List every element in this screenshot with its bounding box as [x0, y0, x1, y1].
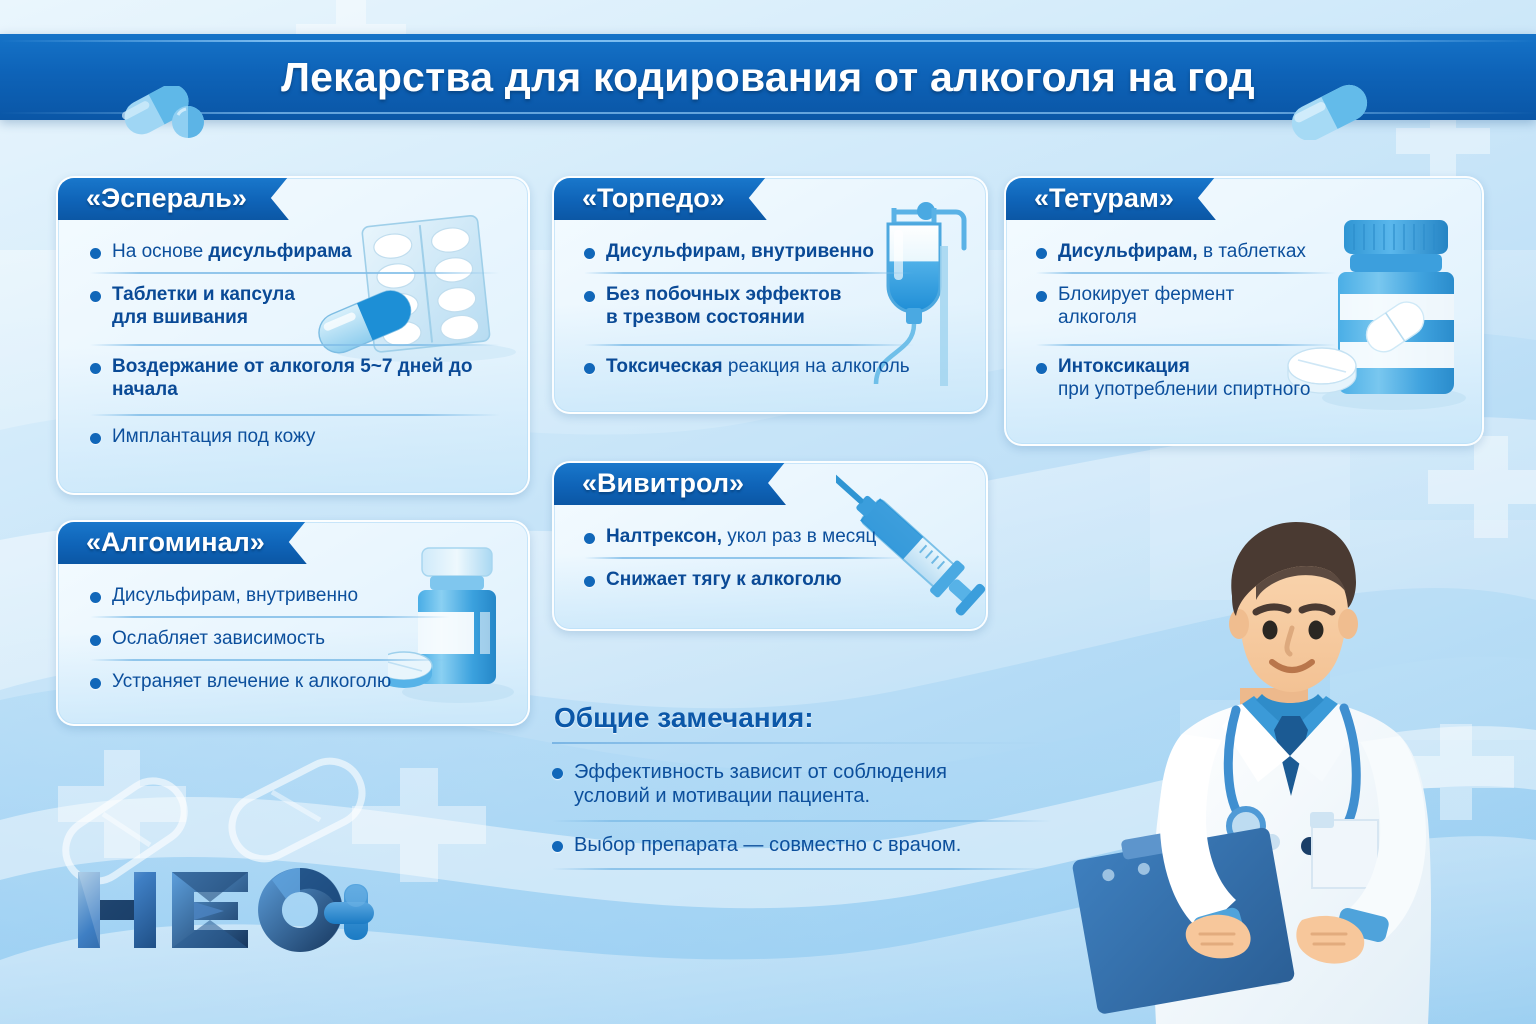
item-text-bold: Интоксикация	[1058, 356, 1190, 377]
list-item: Эффективность зависит от соблюдения усло…	[552, 760, 1052, 809]
capsule-pill-icon	[122, 86, 208, 138]
card-torpedo: «Торпедо» Дисульфирам, внутривенно Без п…	[552, 176, 988, 414]
card-teturam: «Тетурам» Дисульфирам, в таблетках Блоки…	[1004, 176, 1484, 446]
bullet-icon	[90, 635, 101, 646]
divider	[90, 616, 450, 618]
divider	[584, 557, 904, 559]
bullet-icon	[584, 248, 595, 259]
infographic-poster: Лекарства для кодирования от алкоголя на…	[0, 0, 1536, 1024]
item-text-bold: Снижает тягу к алкоголю	[606, 569, 842, 590]
bullet-icon	[90, 248, 101, 259]
item-text-bold: дисульфирама	[208, 241, 351, 262]
brand-logo	[74, 866, 374, 954]
divider	[1036, 344, 1336, 346]
bullet-icon	[584, 291, 595, 302]
list-item: Дисульфирам, внутривенно	[90, 584, 450, 607]
bullet-icon	[1036, 363, 1047, 374]
divider	[552, 868, 1052, 870]
bullet-icon	[552, 841, 563, 852]
list-item: Интоксикация при употреблении спиртного	[1036, 355, 1336, 401]
divider	[90, 659, 450, 661]
card-title-esperal: «Эспераль»	[56, 176, 289, 220]
bullet-icon	[90, 592, 101, 603]
list-item: Устраняет влечение к алкоголю	[90, 670, 450, 693]
item-text: Дисульфирам, внутривенно	[112, 584, 358, 607]
item-text-suffix: при употреблении спиртного	[1058, 379, 1310, 400]
bullet-icon	[584, 533, 595, 544]
card-title-algominal: «Алгоминал»	[56, 520, 307, 564]
list-item: Снижает тягу к алкоголю	[584, 568, 904, 591]
bullet-icon	[90, 291, 101, 302]
general-notes-section: Общие замечания: Эффективность зависит о…	[552, 702, 1052, 881]
list-item: Ослабляет зависимость	[90, 627, 450, 650]
bullet-icon	[90, 363, 101, 374]
list-item: На основе дисульфирама	[90, 240, 500, 263]
list-item: Имплантация под кожу	[90, 425, 500, 448]
item-text: Ослабляет зависимость	[112, 627, 325, 650]
divider	[584, 272, 914, 274]
item-text: Устраняет влечение к алкоголю	[112, 670, 391, 693]
list-item: Дисульфирам, внутривенно	[584, 240, 914, 263]
divider	[584, 344, 914, 346]
list-item: Без побочных эффектов в трезвом состояни…	[584, 283, 914, 329]
item-text-prefix: На основе	[112, 241, 208, 262]
item-text-bold: Дисульфирам, внутривенно	[606, 241, 874, 262]
item-text: Блокирует фермент алкоголя	[1058, 283, 1240, 329]
item-text-bold: Воздержание от алкоголя 5~7 дней до нача…	[112, 356, 472, 400]
item-text-suffix: в таблетках	[1198, 241, 1306, 262]
doctor-with-clipboard-illustration	[1060, 520, 1520, 1024]
item-text: Имплантация под кожу	[112, 425, 315, 448]
bullet-icon	[584, 576, 595, 587]
item-text-bold: Таблетки и капсула для вшивания	[112, 284, 295, 328]
card-vivitrol: «Вивитрол» Налтрексон, укол раз в месяц …	[552, 461, 988, 631]
list-item: Выбор препарата — совместно с врачом.	[552, 833, 1052, 857]
item-text-bold: Налтрексон,	[606, 526, 722, 547]
bullet-icon	[584, 363, 595, 374]
card-esperal: «Эспераль» На основе дисульфирама Таблет…	[56, 176, 530, 495]
card-title-vivitrol: «Вивитрол»	[552, 461, 786, 505]
list-item: Воздержание от алкоголя 5~7 дней до нача…	[90, 355, 500, 401]
note-text: Эффективность зависит от соблюдения усло…	[574, 760, 1004, 809]
list-item: Токсическая реакция на алкоголь	[584, 355, 914, 378]
divider	[90, 344, 500, 346]
divider	[90, 272, 500, 274]
card-title-teturam: «Тетурам»	[1004, 176, 1216, 220]
bullet-icon	[90, 433, 101, 444]
bullet-icon	[552, 768, 563, 779]
capsule-icon	[1283, 84, 1375, 140]
notes-rule	[552, 742, 1052, 744]
divider	[552, 820, 1052, 822]
list-item: Блокирует фермент алкоголя	[1036, 283, 1336, 329]
bullet-icon	[90, 678, 101, 689]
list-item: Дисульфирам, в таблетках	[1036, 240, 1336, 263]
list-item: Таблетки и капсула для вшивания	[90, 283, 500, 329]
poster-header: Лекарства для кодирования от алкоголя на…	[0, 34, 1536, 120]
bullet-icon	[1036, 291, 1047, 302]
item-text-bold: Без побочных эффектов в трезвом состояни…	[606, 284, 841, 328]
item-text-suffix: укол раз в месяц	[722, 526, 876, 547]
item-text-suffix: реакция на алкоголь	[723, 356, 910, 377]
note-text: Выбор препарата — совместно с врачом.	[574, 833, 961, 857]
card-title-torpedo: «Торпедо»	[552, 176, 767, 220]
divider	[1036, 272, 1336, 274]
item-text-bold: Токсическая	[606, 356, 723, 377]
item-text-bold: Дисульфирам,	[1058, 241, 1198, 262]
notes-title: Общие замечания:	[554, 702, 1052, 734]
bullet-icon	[1036, 248, 1047, 259]
page-title: Лекарства для кодирования от алкоголя на…	[281, 54, 1255, 101]
divider	[90, 414, 500, 416]
card-algominal: «Алгоминал» Дисульфирам, внутривенно Осл…	[56, 520, 530, 726]
list-item: Налтрексон, укол раз в месяц	[584, 525, 904, 548]
